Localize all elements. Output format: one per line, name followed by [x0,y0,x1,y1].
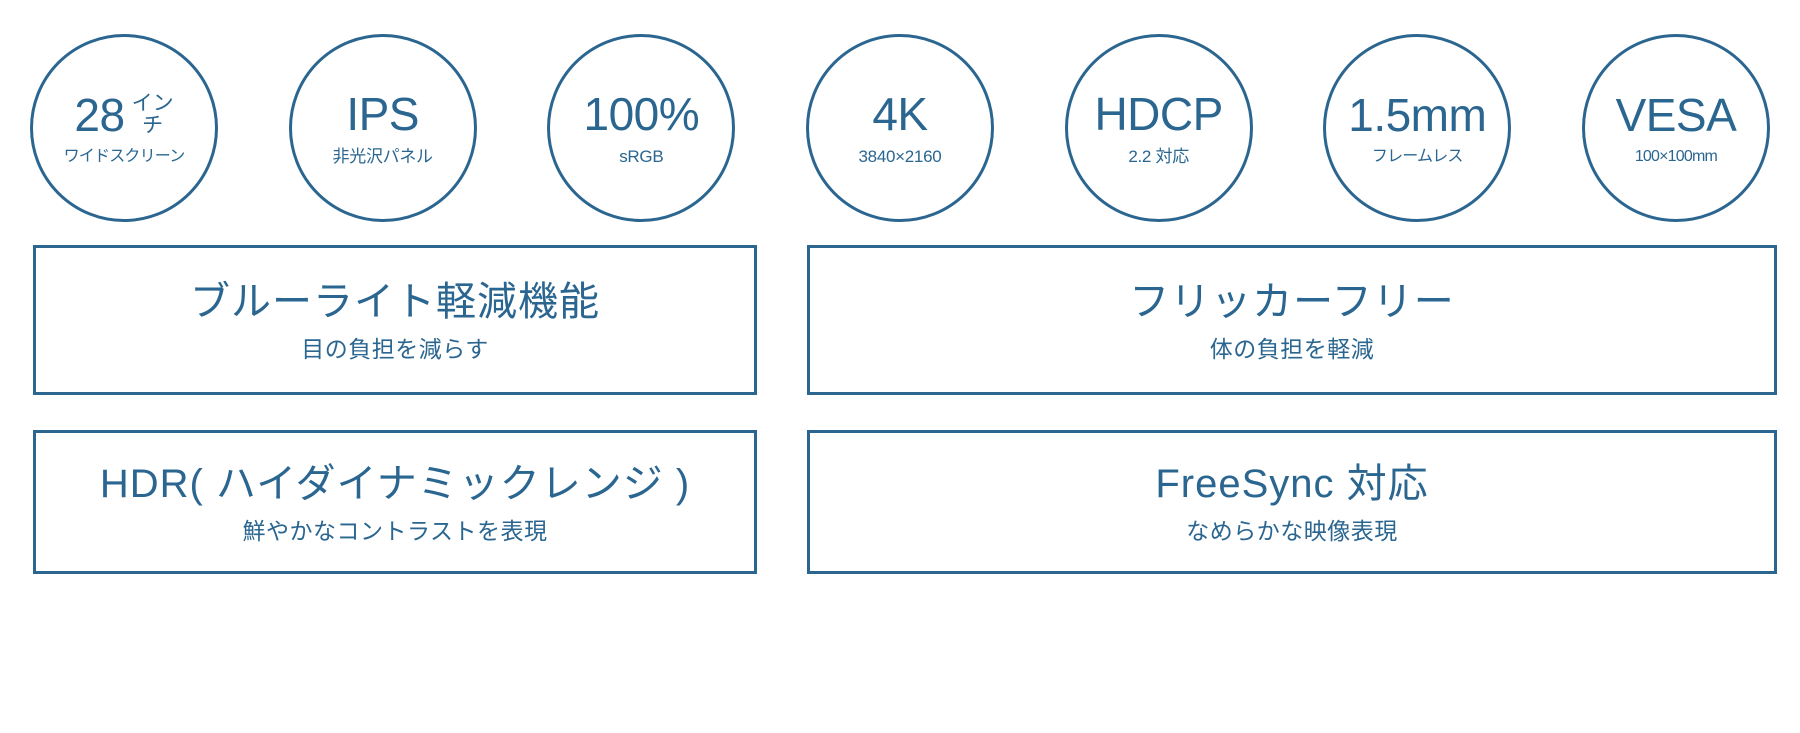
circle-main-value: 4K [872,91,927,137]
feature-title: HDR( ハイダイナミックレンジ ) [100,462,690,506]
circle-main-group: 1.5mm [1348,92,1486,138]
circle-main-group: 28 イン チ [74,92,173,138]
feature-box-flicker-free: フリッカーフリー 体の負担を軽減 [807,245,1777,395]
circle-main-value: VESA [1616,92,1737,138]
feature-box-grid: ブルーライト軽減機能 目の負担を減らす フリッカーフリー 体の負担を軽減 HDR… [33,245,1777,574]
circle-sub-label: sRGB [619,148,663,165]
circle-main-value: 1.5mm [1348,92,1486,138]
feature-row-bottom: HDR( ハイダイナミックレンジ ) 鮮やかなコントラストを表現 FreeSyn… [33,430,1777,574]
circle-main-unit-stack: イン チ [132,93,174,137]
circle-badge-resolution: 4K 3840×2160 [806,34,994,222]
circle-main-group: IPS [346,91,419,137]
feature-subtitle: 鮮やかなコントラストを表現 [242,520,547,543]
circle-badge-bezel: 1.5mm フレームレス [1323,34,1511,222]
unit-line-2: チ [142,115,163,137]
circle-sub-label: 非光沢パネル [333,148,433,165]
feature-subtitle: 目の負担を減らす [301,338,489,361]
circle-badge-panel-type: IPS 非光沢パネル [289,34,477,222]
circle-main-group: 100% [583,91,699,137]
circle-sub-label: ワイドスクリーン [64,149,185,165]
feature-box-blue-light: ブルーライト軽減機能 目の負担を減らす [33,245,757,395]
circle-badge-inches: 28 イン チ ワイドスクリーン [30,34,218,222]
unit-line-1: イン [132,93,174,115]
circle-main-value: HDCP [1094,91,1222,137]
feature-title: FreeSync 対応 [1155,462,1428,506]
circle-main-value: 100% [583,91,699,137]
circle-sub-label: 2.2 対応 [1128,148,1189,165]
circle-main-group: HDCP [1094,91,1222,137]
circle-main-value: 28 [74,92,124,138]
circle-sub-label: 100×100mm [1635,149,1717,165]
feature-subtitle: なめらかな映像表現 [1186,520,1398,543]
feature-subtitle: 体の負担を軽減 [1210,338,1375,361]
spec-sheet: 28 イン チ ワイドスクリーン IPS 非光沢パネル 100% sRGB 4K [0,0,1800,733]
circle-main-value: IPS [346,91,419,137]
feature-row-top: ブルーライト軽減機能 目の負担を減らす フリッカーフリー 体の負担を軽減 [33,245,1777,395]
feature-box-hdr: HDR( ハイダイナミックレンジ ) 鮮やかなコントラストを表現 [33,430,757,574]
circle-main-group: 4K [872,91,927,137]
circle-badge-row: 28 イン チ ワイドスクリーン IPS 非光沢パネル 100% sRGB 4K [30,30,1770,226]
circle-badge-vesa: VESA 100×100mm [1582,34,1770,222]
circle-main-group: VESA [1616,92,1737,138]
feature-box-freesync: FreeSync 対応 なめらかな映像表現 [807,430,1777,574]
circle-sub-label: 3840×2160 [859,148,942,165]
circle-sub-label: フレームレス [1372,149,1463,165]
feature-title: フリッカーフリー [1129,280,1455,324]
circle-badge-color-gamut: 100% sRGB [547,34,735,222]
feature-title: ブルーライト軽減機能 [190,280,600,324]
circle-badge-hdcp: HDCP 2.2 対応 [1065,34,1253,222]
